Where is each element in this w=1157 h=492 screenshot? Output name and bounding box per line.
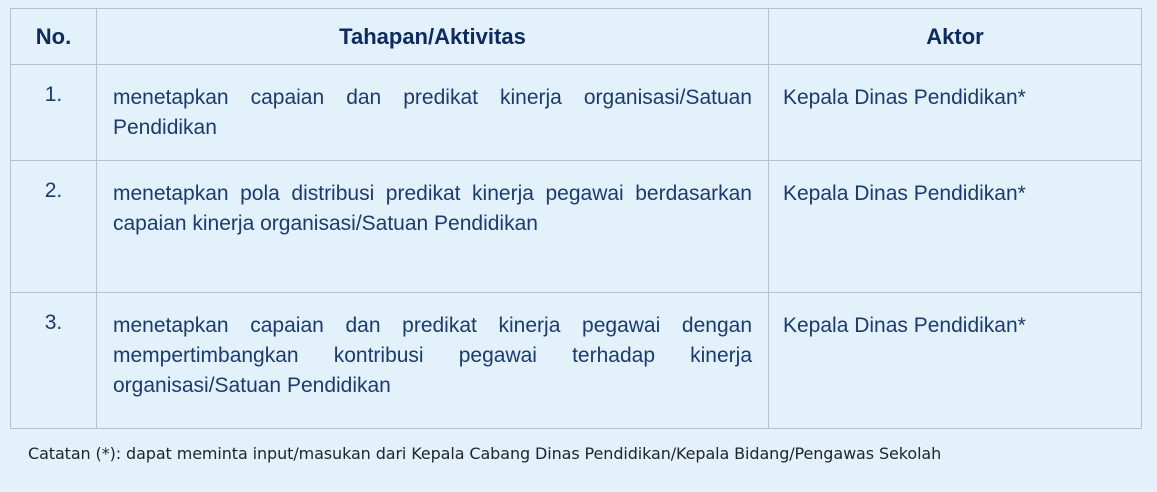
- column-header-activity: Tahapan/Aktivitas: [97, 9, 769, 65]
- page-root: No. Tahapan/Aktivitas Aktor 1. menetapka…: [0, 0, 1157, 492]
- table-row: 3. menetapkan capaian dan predikat kiner…: [11, 293, 1142, 429]
- table-header: No. Tahapan/Aktivitas Aktor: [11, 9, 1142, 65]
- row-activity: menetapkan capaian dan predikat kinerja …: [97, 65, 769, 161]
- table-row: 2. menetapkan pola distribusi predikat k…: [11, 161, 1142, 293]
- column-header-no: No.: [11, 9, 97, 65]
- column-header-actor: Aktor: [769, 9, 1142, 65]
- row-number: 3.: [11, 293, 97, 429]
- table-body: 1. menetapkan capaian dan predikat kiner…: [11, 65, 1142, 429]
- activity-table-container: No. Tahapan/Aktivitas Aktor 1. menetapka…: [10, 8, 1141, 429]
- row-activity: menetapkan pola distribusi predikat kine…: [97, 161, 769, 293]
- row-actor: Kepala Dinas Pendidikan*: [769, 161, 1142, 293]
- table-row: 1. menetapkan capaian dan predikat kiner…: [11, 65, 1142, 161]
- table-header-row: No. Tahapan/Aktivitas Aktor: [11, 9, 1142, 65]
- row-actor: Kepala Dinas Pendidikan*: [769, 293, 1142, 429]
- activity-table: No. Tahapan/Aktivitas Aktor 1. menetapka…: [10, 8, 1142, 429]
- row-number: 1.: [11, 65, 97, 161]
- table-footnote: Catatan (*): dapat meminta input/masukan…: [28, 444, 941, 463]
- row-activity: menetapkan capaian dan predikat kinerja …: [97, 293, 769, 429]
- row-actor: Kepala Dinas Pendidikan*: [769, 65, 1142, 161]
- row-number: 2.: [11, 161, 97, 293]
